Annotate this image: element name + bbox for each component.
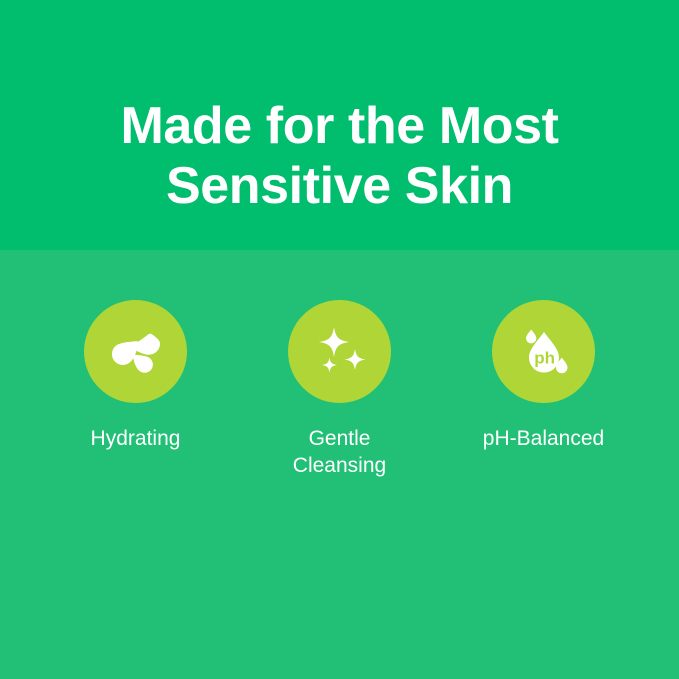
feature-label-ph-balanced: pH-Balanced xyxy=(483,425,604,452)
ph-droplet-icon: ph xyxy=(514,322,574,382)
feature-icon-badge-gentle-cleansing xyxy=(288,300,391,403)
sparkles-icon xyxy=(310,322,370,382)
feature-icon-badge-ph-balanced: ph xyxy=(492,300,595,403)
feature-icon-badge-hydrating xyxy=(84,300,187,403)
feature-item-ph-balanced: ph pH-Balanced xyxy=(442,300,646,452)
feature-list: Hydrating Gentle Cleansing xyxy=(0,300,679,480)
feature-item-gentle-cleansing: Gentle Cleansing xyxy=(238,300,442,480)
feature-item-hydrating: Hydrating xyxy=(34,300,238,452)
feature-label-gentle-cleansing: Gentle Cleansing xyxy=(293,425,386,480)
headline-line-1: Made for the Most xyxy=(60,96,619,156)
water-droplets-icon xyxy=(106,322,166,382)
feature-label-hydrating: Hydrating xyxy=(91,425,181,452)
headline-line-2: Sensitive Skin xyxy=(60,156,619,216)
promo-banner: Made for the Most Sensitive Skin Hydr xyxy=(0,0,679,679)
page-title: Made for the Most Sensitive Skin xyxy=(0,96,679,217)
